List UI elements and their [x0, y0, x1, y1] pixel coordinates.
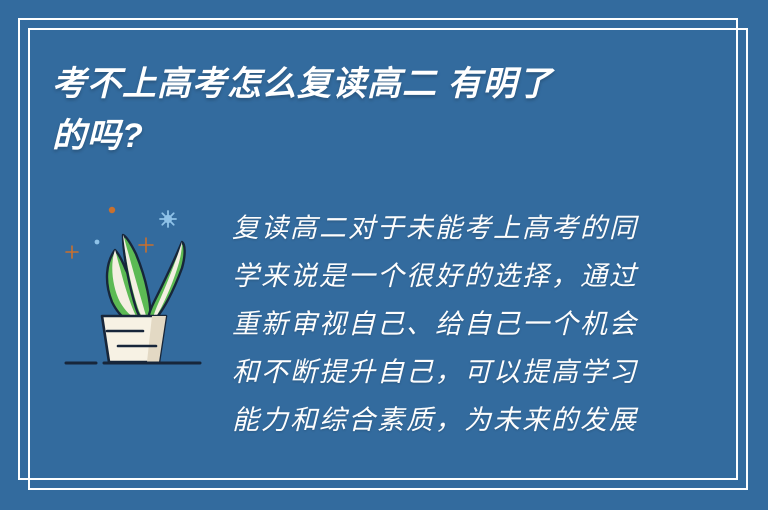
- body-paragraph: 复读高二对于未能考上高考的同 学来说是一个很好的选择，通过 重新审视自己、给自己…: [232, 205, 652, 445]
- dot-blue-left: [95, 240, 100, 245]
- snowflake-blue: [160, 211, 176, 227]
- sparkle-orange-mid: [139, 238, 153, 252]
- sparkle-orange-left: [66, 246, 78, 258]
- plant-pot: [102, 316, 166, 362]
- potted-plant-illustration: [60, 190, 240, 380]
- page-title: 考不上高考怎么复读高二 有明了 的吗?: [52, 58, 692, 162]
- sparkle-group: [66, 207, 176, 258]
- poster-canvas: 考不上高考怎么复读高二 有明了 的吗?: [0, 0, 768, 510]
- dot-orange-top: [109, 207, 115, 213]
